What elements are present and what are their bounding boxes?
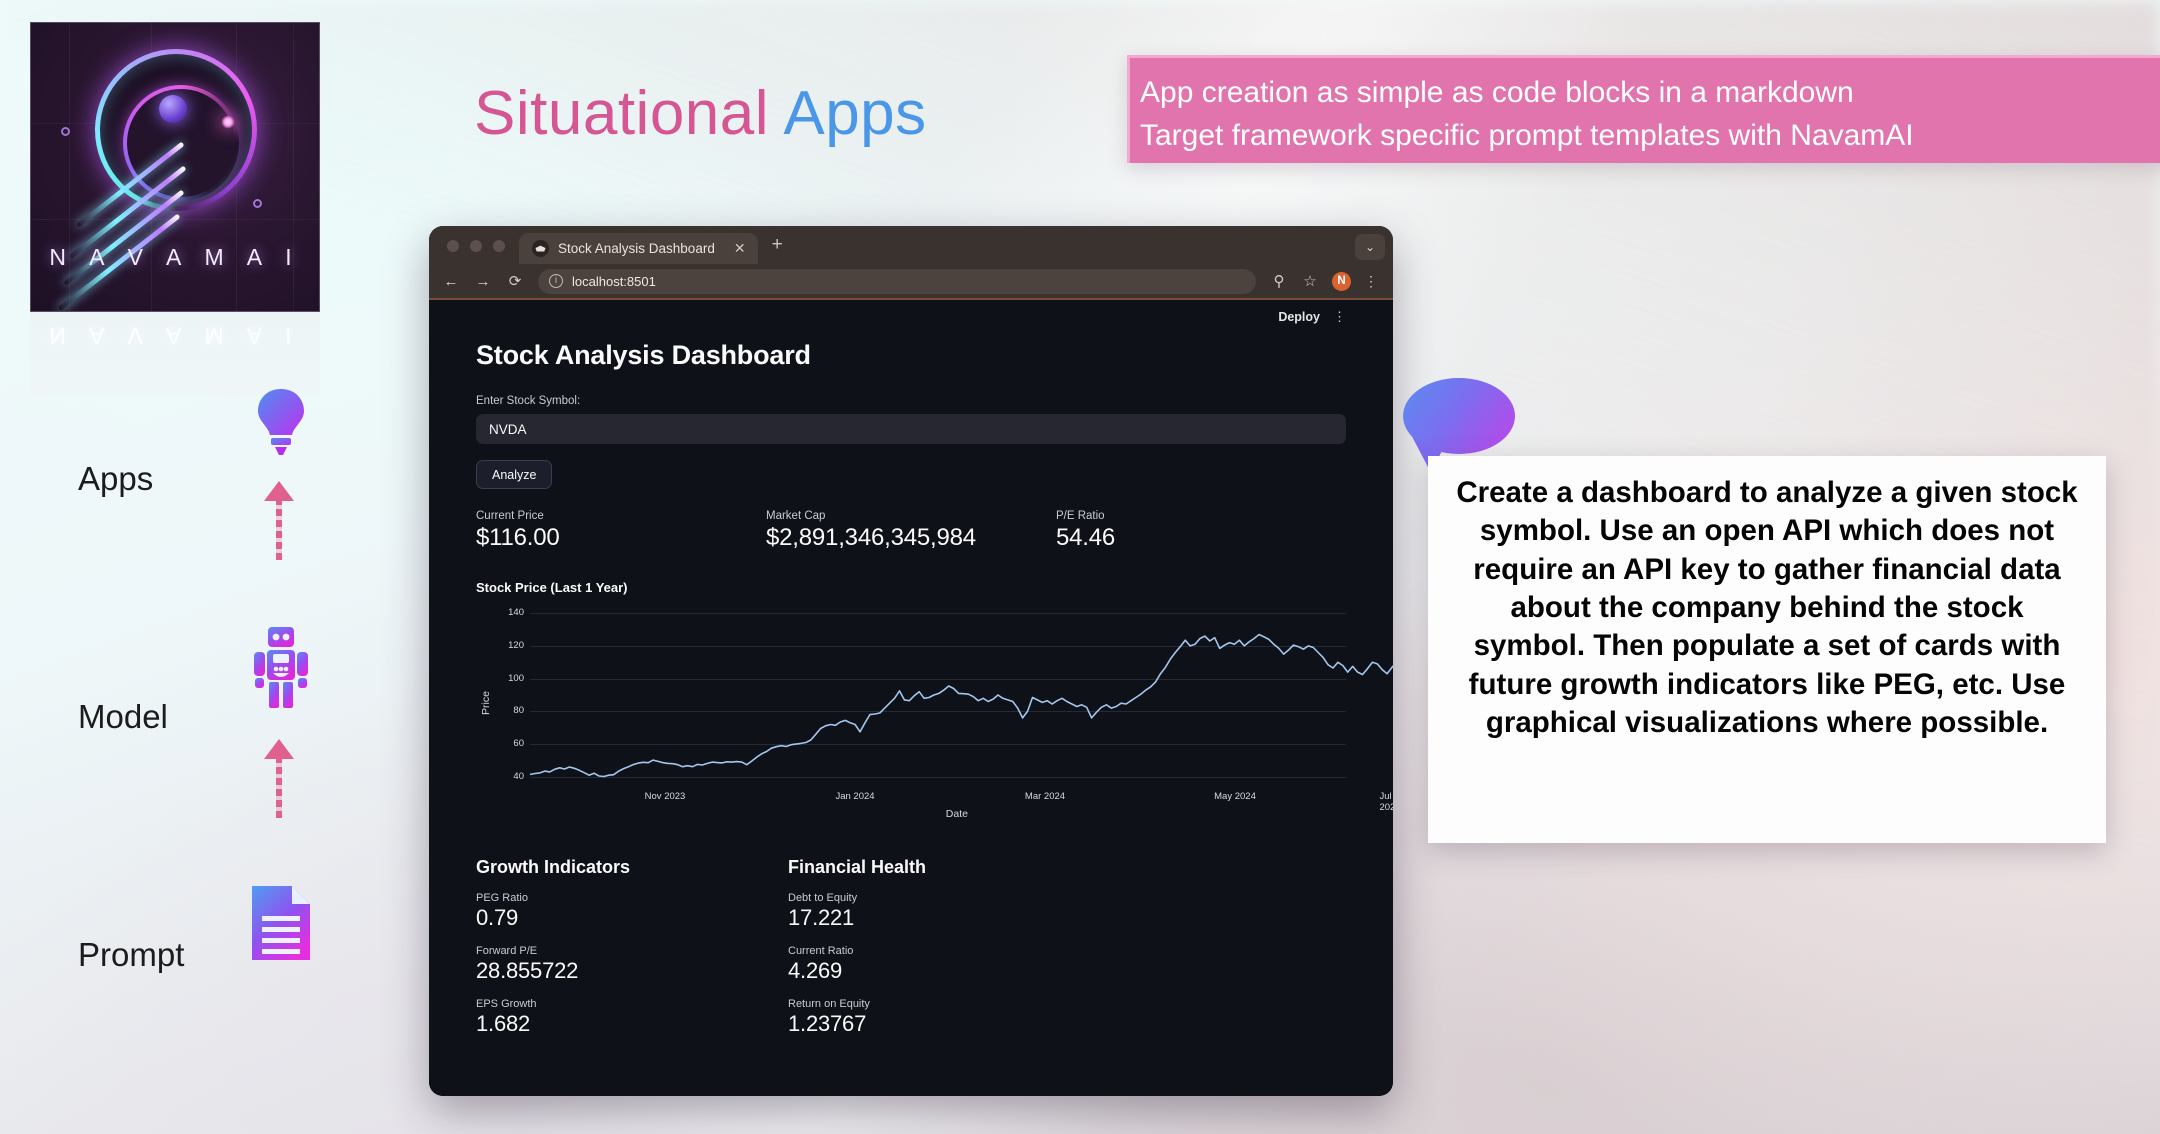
browser-toolbar: ← → ⟳ i localhost:8501 ⚲ ☆ N ⋮ [429, 264, 1393, 300]
symbol-input-label: Enter Stock Symbol: [476, 395, 1346, 407]
stat-value: 4.269 [788, 958, 1100, 984]
section-title: Financial Health [788, 857, 1100, 878]
flow-arrow-up-1 [276, 498, 282, 560]
symbol-input[interactable]: NVDA [476, 414, 1346, 444]
flow-label-apps: Apps [78, 460, 153, 498]
analyze-button[interactable]: Analyze [476, 460, 552, 489]
metric-value: $2,891,346,345,984 [766, 524, 1056, 552]
chart-title: Stock Price (Last 1 Year) [476, 580, 1346, 595]
prompt-card: Create a dashboard to analyze a given st… [1428, 456, 2106, 843]
zoom-out-icon[interactable]: ⚲ [1270, 272, 1288, 290]
indicator-sections: Growth Indicators PEG Ratio 0.79 Forward… [476, 857, 1346, 1051]
metric-label: Current Price [476, 510, 766, 522]
section-growth-indicators: Growth Indicators PEG Ratio 0.79 Forward… [476, 857, 788, 1051]
window-maximize-dot[interactable] [493, 240, 505, 252]
streamlit-favicon [532, 240, 549, 257]
stat-peg-ratio: PEG Ratio 0.79 [476, 892, 788, 931]
stat-label: PEG Ratio [476, 892, 788, 904]
flow-label-prompt: Prompt [78, 936, 184, 974]
x-tick-label: Nov 2023 [645, 791, 686, 802]
metric-pe-ratio: P/E Ratio 54.46 [1056, 510, 1115, 552]
stat-value: 28.855722 [476, 958, 788, 984]
metric-label: P/E Ratio [1056, 510, 1115, 522]
window-close-dot[interactable] [447, 240, 459, 252]
stat-value: 17.221 [788, 905, 1100, 931]
logo-reflection: N A V A M A I [30, 312, 320, 396]
y-tick-label: 100 [490, 673, 524, 684]
window-minimize-dot[interactable] [470, 240, 482, 252]
y-tick-label: 40 [490, 771, 524, 782]
address-bar[interactable]: i localhost:8501 [538, 269, 1256, 294]
metric-value: 54.46 [1056, 524, 1115, 552]
x-tick-label: May 2024 [1214, 791, 1256, 802]
banner-line-2: Target framework specific prompt templat… [1140, 115, 2160, 158]
logo-spark [221, 115, 235, 129]
banner-line-1: App creation as simple as code blocks in… [1140, 72, 2160, 115]
app-topbar: Deploy ⋮ [476, 300, 1346, 334]
y-tick-label: 60 [490, 738, 524, 749]
metric-current-price: Current Price $116.00 [476, 510, 766, 552]
flow-arrow-up-2 [276, 756, 282, 818]
stat-label: Current Ratio [788, 945, 1100, 957]
price-line-plot [530, 605, 1393, 785]
y-tick-label: 80 [490, 705, 524, 716]
lightbulb-icon [256, 387, 306, 457]
chevron-down-icon[interactable]: ⌄ [1355, 234, 1385, 260]
avatar[interactable]: N [1332, 272, 1351, 291]
stat-value: 0.79 [476, 905, 788, 931]
browser-window: Stock Analysis Dashboard ✕ + ⌄ ← → ⟳ i l… [429, 226, 1393, 1096]
x-tick-label: Mar 2024 [1025, 791, 1065, 802]
symbol-input-value: NVDA [489, 422, 527, 437]
page-title-part1: Situational [474, 79, 783, 148]
browser-tab[interactable]: Stock Analysis Dashboard ✕ [519, 233, 758, 264]
logo-reflection-text: N A V A M A I [30, 322, 320, 349]
stat-label: EPS Growth [476, 998, 788, 1010]
y-tick-label: 120 [490, 640, 524, 651]
close-icon[interactable]: ✕ [724, 240, 746, 257]
stat-current-ratio: Current Ratio 4.269 [788, 945, 1100, 984]
flow-label-model: Model [78, 698, 168, 736]
logo-core-dot [159, 95, 187, 123]
toolbar-actions: ⚲ ☆ N ⋮ [1270, 272, 1380, 291]
forward-icon[interactable]: → [474, 273, 492, 290]
speech-bubble-icon [1403, 378, 1515, 454]
window-controls[interactable] [429, 240, 519, 264]
section-title: Growth Indicators [476, 857, 788, 878]
stat-label: Debt to Equity [788, 892, 1100, 904]
stat-eps-growth: EPS Growth 1.682 [476, 998, 788, 1037]
browser-tabstrip: Stock Analysis Dashboard ✕ + ⌄ [429, 226, 1393, 264]
stat-forward-pe: Forward P/E 28.855722 [476, 945, 788, 984]
metric-market-cap: Market Cap $2,891,346,345,984 [766, 510, 1056, 552]
address-bar-url: localhost:8501 [572, 274, 656, 289]
headline-banner: App creation as simple as code blocks in… [1127, 55, 2160, 163]
metrics-row: Current Price $116.00 Market Cap $2,891,… [476, 510, 1346, 552]
streamlit-app: Deploy ⋮ Stock Analysis Dashboard Enter … [429, 300, 1393, 1096]
stock-price-chart: Price 140120100806040 Nov 2023Jan 2024Ma… [476, 605, 1346, 827]
browser-menu-icon[interactable]: ⋮ [1364, 279, 1378, 284]
document-icon [250, 884, 312, 962]
x-tick-label: Jan 2024 [835, 791, 874, 802]
logo-wordmark: N A V A M A I [31, 244, 319, 271]
stat-label: Forward P/E [476, 945, 788, 957]
section-financial-health: Financial Health Debt to Equity 17.221 C… [788, 857, 1100, 1051]
x-tick-label: Jul 2024 [1379, 791, 1393, 813]
page-title-part2: Apps [783, 79, 926, 148]
browser-tab-title: Stock Analysis Dashboard [558, 241, 715, 256]
deploy-button[interactable]: Deploy [1278, 310, 1320, 324]
robot-icon [248, 626, 314, 710]
site-info-icon[interactable]: i [549, 274, 563, 288]
stat-label: Return on Equity [788, 998, 1100, 1010]
y-tick-label: 140 [490, 607, 524, 618]
stat-value: 1.23767 [788, 1011, 1100, 1037]
reload-icon[interactable]: ⟳ [506, 272, 524, 290]
new-tab-button[interactable]: + [758, 234, 783, 264]
x-axis-label: Date [946, 808, 968, 820]
metric-label: Market Cap [766, 510, 1056, 522]
back-icon[interactable]: ← [442, 273, 460, 290]
navamai-logo: N A V A M A I N A V A M A I [30, 22, 320, 396]
app-menu-icon[interactable]: ⋮ [1333, 315, 1346, 319]
stat-value: 1.682 [476, 1011, 788, 1037]
page-title: Situational Apps [474, 78, 927, 149]
logo-artwork: N A V A M A I [30, 22, 320, 312]
page-heading: Stock Analysis Dashboard [476, 340, 1346, 371]
stat-debt-to-equity: Debt to Equity 17.221 [788, 892, 1100, 931]
bookmark-star-icon[interactable]: ☆ [1301, 272, 1319, 290]
metric-value: $116.00 [476, 524, 766, 552]
stat-return-on-equity: Return on Equity 1.23767 [788, 998, 1100, 1037]
